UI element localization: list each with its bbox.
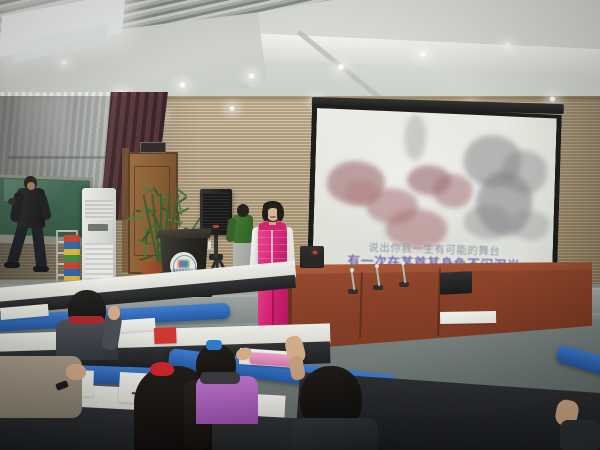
boy-green-head [237,204,249,217]
school-emblem-mark-icon [178,260,189,268]
student-girl-pink-jacket-bow [206,340,222,350]
air-conditioner-vent-icon [85,200,113,220]
student-girl-red-bow-accessory [150,362,174,376]
student-boy-raised-hand [108,306,120,320]
recessed-downlight [178,82,187,88]
presenter-vest-zipper [271,226,273,266]
recessed-downlight [60,60,68,65]
recessed-downlight [247,73,256,79]
recessed-downlight [336,64,346,70]
door-sign-plate [140,142,166,153]
recessed-downlight [548,96,557,102]
desk-speaker [440,271,472,295]
air-conditioner-grille-icon [85,243,113,281]
power-led-icon [313,251,317,254]
projection-screen[interactable]: 说出你我一生有可能的舞台 有一次在某首其身色不闪泪光 [312,108,557,285]
plant-leaf [128,217,145,220]
recessed-downlight [418,51,428,57]
projected-blot [463,204,512,239]
water-bottle [208,241,211,249]
worksheet-paper [440,311,496,324]
student-far-left-hand [66,364,86,380]
air-conditioner-display [88,224,108,231]
presenter-hair-left [262,206,268,221]
photo-scene: 说出你我一生有可能的舞台 有一次在某首其身色不闪泪光 [0,0,600,450]
man-hand [8,198,16,205]
microphone-head-icon [350,268,354,272]
student-girl-pink-scarf [200,372,240,384]
presenter-hair-right [277,205,284,221]
man-shoe-right [33,266,49,272]
recessed-downlight [228,106,236,111]
plant-leaf [136,210,141,213]
man-face [27,182,35,190]
student-boy-collar [68,316,104,324]
man-shoe-left [4,262,20,268]
student-front-right-jacket [292,418,378,450]
student-right-edge-sleeve [560,420,600,450]
tripod-pole [214,234,218,258]
projected-blot [432,173,473,208]
plant-leaf [144,243,146,257]
stacked-colored-rings [64,235,80,283]
plant-leaf [139,255,153,262]
projected-blot [403,115,426,162]
presenter-smile [270,216,276,218]
projected-blot [509,210,550,241]
microphone-head-icon [401,261,405,265]
av-equipment-box-lower [302,258,324,267]
red-card [154,327,177,344]
recessed-downlight [502,42,513,49]
microphone-head-icon [375,264,379,268]
pa-speaker-logo [213,225,219,228]
